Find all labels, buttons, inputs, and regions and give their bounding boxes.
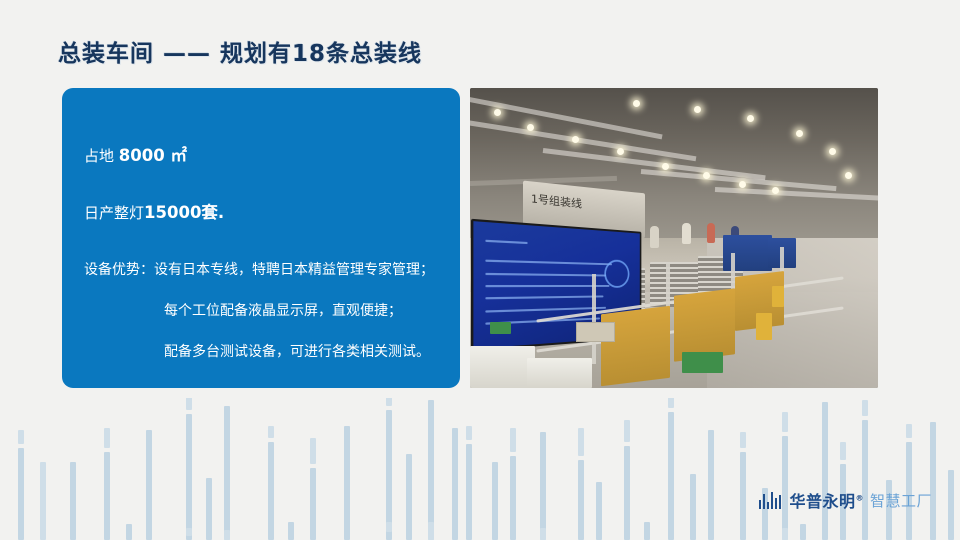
photo-worker	[650, 226, 659, 248]
decor-bar-segment	[268, 426, 274, 438]
decor-bar	[344, 426, 350, 540]
photo-worker	[707, 223, 715, 243]
decor-bar-segment	[782, 528, 788, 540]
decor-bar-segment	[104, 428, 110, 448]
panel-line-output: 日产整灯15000套.	[84, 201, 442, 226]
decor-bar-segment	[310, 438, 316, 464]
decor-bar	[466, 444, 472, 540]
decor-bar	[310, 468, 316, 540]
decor-bar-segment	[386, 398, 392, 406]
panel-line-advantage-1: 设备优势：设有日本专线，特聘日本精益管理专家管理；	[84, 260, 442, 281]
photo-floor-curb	[756, 313, 772, 340]
decor-bar	[822, 402, 828, 540]
panel-line-area: 占地 8000 ㎡	[84, 144, 442, 169]
decor-bar	[452, 428, 458, 540]
logo-registered-mark: ®	[855, 494, 864, 503]
info-panel: 占地 8000 ㎡ 日产整灯15000套. 设备优势：设有日本专线，特聘日本精益…	[62, 88, 460, 388]
decor-bar	[510, 456, 516, 540]
decor-bar	[578, 460, 584, 540]
slide-root: 总装车间 —— 规划有18条总装线 占地 8000 ㎡ 日产整灯15000套. …	[0, 0, 960, 540]
decor-bar-segment	[668, 398, 674, 408]
photo-goods-stack	[527, 358, 592, 388]
photo-ceiling-lamp	[703, 172, 710, 179]
logo-tagline: 智慧工厂	[870, 490, 932, 511]
decor-bar-segment	[186, 398, 192, 410]
logo-bars-icon	[759, 492, 784, 509]
decor-bar	[104, 452, 110, 540]
decor-bar-segment	[578, 428, 584, 456]
photo-scene: 1号组装线	[470, 88, 878, 388]
decor-bar-segment	[386, 522, 392, 532]
decor-bar-segment	[840, 442, 846, 460]
decor-bar	[268, 442, 274, 540]
decor-bar	[800, 524, 806, 540]
photo-goods-stack	[470, 346, 535, 388]
decor-bar-segment	[428, 522, 434, 540]
factory-photo: 1号组装线	[470, 88, 878, 388]
area-label: 占地	[84, 147, 119, 165]
decor-bar	[224, 406, 230, 540]
decor-bar	[644, 522, 650, 540]
output-value: 15000套.	[144, 203, 224, 222]
logo-brand-name: 华普永明®	[789, 488, 864, 512]
decor-bar	[930, 422, 936, 540]
decor-bar-segment	[224, 530, 230, 540]
decor-bar	[690, 474, 696, 540]
decor-bar	[740, 452, 746, 540]
decor-bar	[18, 448, 24, 540]
photo-green-tray	[682, 352, 723, 373]
photo-worker	[682, 223, 691, 244]
photo-carton	[576, 322, 615, 342]
photo-monitor-row	[486, 296, 604, 300]
decor-bar	[668, 412, 674, 540]
decor-bar-segment	[624, 420, 630, 442]
decor-bar	[186, 414, 192, 540]
page-title: 总装车间 —— 规划有18条总装线	[58, 34, 422, 68]
decor-bar-segment	[40, 462, 46, 540]
photo-monitor-gauge	[604, 259, 629, 288]
decor-bar	[596, 482, 602, 540]
area-value: 8000 ㎡	[119, 146, 187, 165]
decor-bar-segment	[906, 424, 912, 438]
photo-ceiling-lamp	[617, 148, 624, 155]
photo-ceiling-lamp	[572, 136, 579, 143]
decor-bar	[428, 400, 434, 540]
decor-bar-segment	[740, 432, 746, 448]
decor-bar-segment	[466, 426, 472, 440]
decor-bar	[288, 522, 294, 540]
decor-bar	[146, 430, 152, 540]
decor-bar	[708, 430, 714, 540]
decor-bar	[406, 454, 412, 540]
decor-bar	[386, 410, 392, 540]
photo-monitor-row	[486, 240, 528, 244]
decor-bar-segment	[510, 428, 516, 452]
panel-line-advantage-3: 配备多台测试设备，可进行各类相关测试。	[84, 342, 442, 363]
decor-bar	[948, 470, 954, 540]
photo-monitor-row	[486, 272, 607, 276]
photo-wood-panel	[674, 288, 735, 362]
photo-floor-curb	[772, 286, 784, 307]
photo-ceiling-lamp	[662, 163, 669, 170]
decor-bar	[492, 462, 498, 540]
decor-bar	[624, 446, 630, 540]
photo-green-tray	[490, 322, 510, 334]
decor-bar-segment	[540, 528, 546, 540]
decor-bar-segment	[18, 430, 24, 444]
photo-monitor-row	[486, 285, 610, 287]
decor-bar	[862, 420, 868, 540]
output-label: 日产整灯	[84, 204, 144, 222]
decor-bar	[126, 524, 132, 540]
footer-logo: 华普永明® 智慧工厂	[759, 488, 932, 512]
panel-line-advantage-2: 每个工位配备液晶显示屏，直观便捷；	[84, 301, 442, 322]
decor-bar	[206, 478, 212, 540]
photo-rail-post	[592, 274, 596, 364]
photo-ceiling-lamp	[829, 148, 836, 155]
decorative-bar-band	[0, 398, 960, 540]
photo-wood-panel	[601, 306, 670, 387]
decor-bar-segment	[862, 400, 868, 416]
logo-brand-text: 华普永明	[789, 492, 855, 511]
decor-bar-segment	[186, 528, 192, 536]
photo-ceiling-lamp	[772, 187, 779, 194]
decor-bar	[540, 432, 546, 540]
decor-bar	[70, 462, 76, 540]
photo-monitor-row	[486, 260, 612, 266]
decor-bar-segment	[782, 412, 788, 432]
